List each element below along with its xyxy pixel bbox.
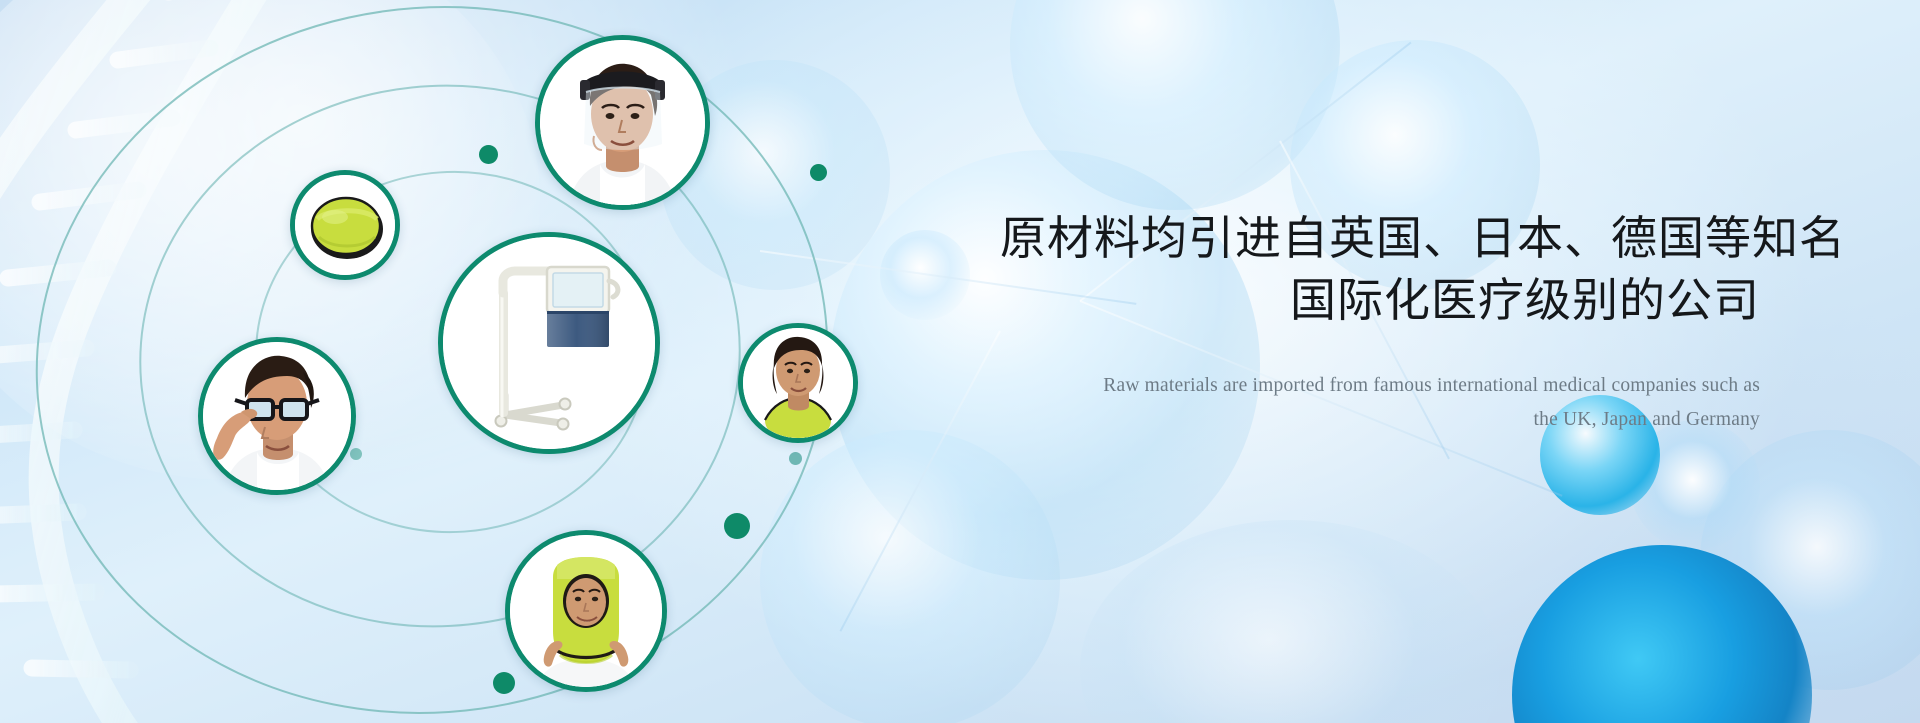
molecule-sphere-right-mid — [1700, 430, 1920, 690]
page-title: 原材料均引进自英国、日本、德国等知名 国际化医疗级别的公司 — [1000, 208, 1760, 331]
bubble-head-shield[interactable] — [535, 35, 710, 210]
bond-3 — [839, 331, 1000, 632]
orbit-dot-5 — [724, 513, 750, 539]
subtitle-line-1: Raw materials are imported from famous i… — [1103, 375, 1760, 396]
portrait-lead-hood-icon — [510, 535, 662, 687]
orbit-dot-4 — [789, 452, 802, 465]
molecule-sphere-bottom-left — [760, 430, 1060, 723]
hero-copy: 原材料均引进自英国、日本、德国等知名 国际化医疗级别的公司 Raw materi… — [1000, 208, 1760, 438]
thyroid-collar-icon — [295, 175, 395, 275]
molecule-sphere-top — [1010, 0, 1340, 210]
orbit-dot-2 — [810, 164, 827, 181]
headline-line-2: 国际化医疗级别的公司 — [1000, 270, 1760, 332]
bubble-leaded-glasses[interactable] — [198, 337, 356, 495]
molecule-sphere-small-glow-2 — [880, 230, 970, 320]
orbit-dot-3 — [350, 448, 362, 460]
bubble-neck-collar[interactable] — [738, 323, 858, 443]
molecule-sphere-faint-bottom — [1080, 520, 1500, 723]
bubble-mobile-x-ray-shield[interactable] — [438, 232, 660, 454]
portrait-leaded-glasses-icon — [203, 342, 351, 490]
subtitle-line-2: the UK, Japan and Germany — [1000, 403, 1760, 437]
hero-banner: 原材料均引进自英国、日本、德国等知名 国际化医疗级别的公司 Raw materi… — [0, 0, 1920, 723]
portrait-neck-collar-icon — [743, 328, 853, 438]
molecule-sphere-small-glow-1 — [1630, 420, 1760, 550]
portrait-head-shield-icon — [540, 40, 705, 205]
bubble-lead-hood[interactable] — [505, 530, 667, 692]
mobile-shield-stand-icon — [443, 237, 655, 449]
molecule-sphere-cyan-corner — [1512, 545, 1812, 723]
page-subtitle: Raw materials are imported from famous i… — [1000, 369, 1760, 437]
bubble-thyroid-collar[interactable] — [290, 170, 400, 280]
orbit-dot-1 — [479, 145, 498, 164]
headline-line-1: 原材料均引进自英国、日本、德国等知名 — [1000, 212, 1846, 264]
